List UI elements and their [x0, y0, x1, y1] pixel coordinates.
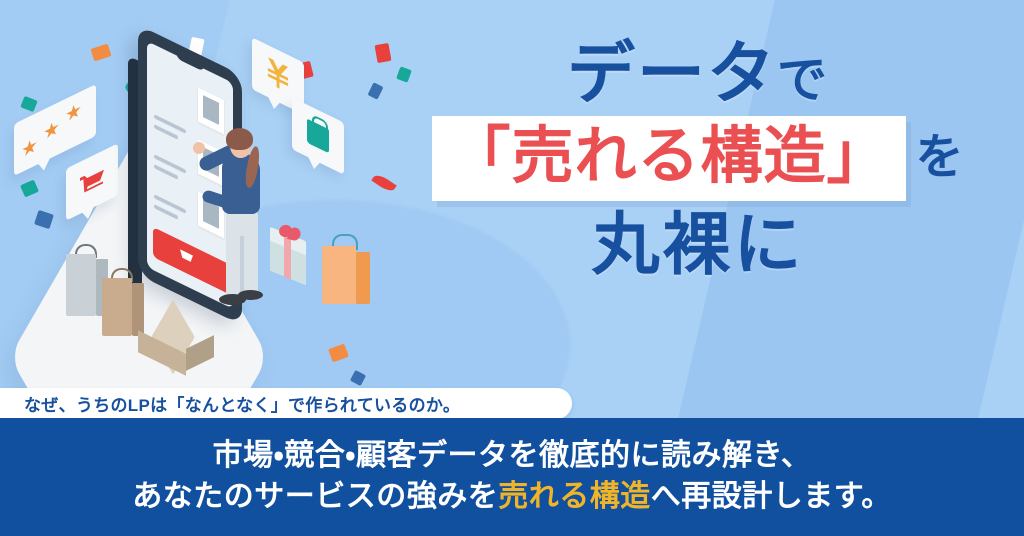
bottom-band: 市場・競合・顧客データを徹底的に読み解き、 あなたのサービスの強みを売れる構造へ…: [0, 418, 1024, 536]
bag-side: [132, 283, 144, 336]
bottom-band-line-2-suffix: へ再設計します。: [651, 480, 892, 513]
headline-line-2: 「売れる構造」 を: [398, 116, 998, 201]
bottom-band-line-2-prefix: あなたのサービスの強みを: [132, 480, 498, 513]
headline-line-2-boxed: 「売れる構造」: [448, 124, 889, 191]
headline-block: データで 「売れる構造」 を 丸裸に: [398, 40, 998, 279]
gift-ribbon: [284, 235, 291, 280]
hero-banner: データで 「売れる構造」 を 丸裸に なぜ、うちのLPは「なんとなく」で作られて…: [0, 0, 1024, 536]
hair: [226, 128, 253, 150]
shoe: [238, 290, 263, 300]
headline-line-3: 丸裸に: [398, 211, 998, 279]
headline-highlight-box: 「売れる構造」: [432, 116, 905, 201]
headline-line-1-suffix: で: [777, 52, 829, 108]
subheading-ribbon-text: なぜ、うちのLPは「なんとなく」で作られているのか。: [0, 391, 460, 416]
bag-front: [66, 254, 96, 316]
bottom-band-line-1: 市場・競合・顧客データを徹底的に読み解き、: [213, 439, 812, 474]
bottom-band-line-2-accent: 売れる構造: [498, 480, 651, 513]
headline-line-2-suffix: を: [916, 134, 964, 182]
illustration-isometric-ecommerce: [0, 22, 420, 394]
leg-divider: [240, 236, 244, 298]
bag-front: [102, 278, 132, 336]
bottom-band-line-2: あなたのサービスの強みを売れる構造へ再設計します。: [132, 480, 892, 515]
headline-line-1-main: データ: [567, 36, 777, 112]
bag-front: [322, 246, 356, 304]
hand: [193, 142, 205, 154]
subheading-ribbon: なぜ、うちのLPは「なんとなく」で作られているのか。: [0, 388, 572, 419]
headline-line-1: データで: [398, 40, 998, 108]
bag-side: [356, 252, 370, 304]
